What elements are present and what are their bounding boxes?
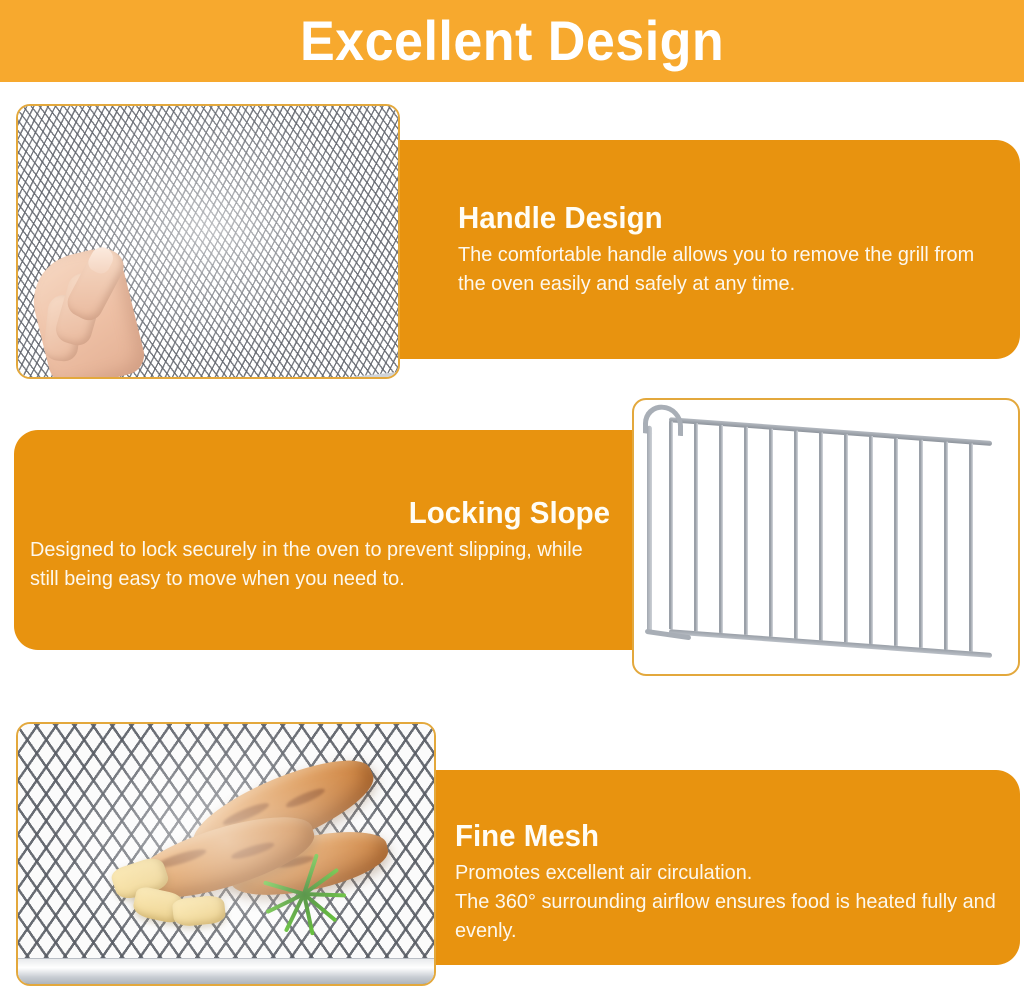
grill-wire-bars [669,421,992,653]
hand-illustration [38,233,158,377]
feature-image-handle-design [16,104,400,379]
feature-heading-handle-design: Handle Design [458,200,976,236]
potato-chunk [171,894,225,927]
page-title: Excellent Design [300,13,724,69]
feature-image-fine-mesh [16,722,436,986]
grill-mark [285,786,327,810]
feature-body-handle-design: The comfortable handle allows you to rem… [458,240,987,298]
header-banner: Excellent Design [0,0,1024,82]
photo-inner-grill [634,400,1018,674]
feature-text-fine-mesh: Fine Mesh Promotes excellent air circula… [455,818,1015,945]
grill-rack-illustration [669,421,992,653]
food-illustration [126,781,384,937]
tray-front-edge [18,958,434,984]
feature-body-locking-slope: Designed to lock securely in the oven to… [30,535,593,593]
photo-inner-handle [18,106,398,377]
feature-text-locking-slope: Locking Slope Designed to lock securely … [30,495,610,593]
herb-blade [263,880,305,895]
herb-sprig [260,865,348,918]
grill-side-rail [647,425,652,634]
grill-mark [231,840,276,862]
feature-image-locking-slope [632,398,1020,676]
photo-inner-food [18,724,434,984]
feature-body-fine-mesh: Promotes excellent air circulation. The … [455,858,998,945]
feature-heading-locking-slope: Locking Slope [59,495,610,531]
feature-heading-fine-mesh: Fine Mesh [455,818,987,854]
infographic-page: Excellent Design Handle Design The comfo… [0,0,1024,999]
feature-text-handle-design: Handle Design The comfortable handle all… [458,200,1003,298]
